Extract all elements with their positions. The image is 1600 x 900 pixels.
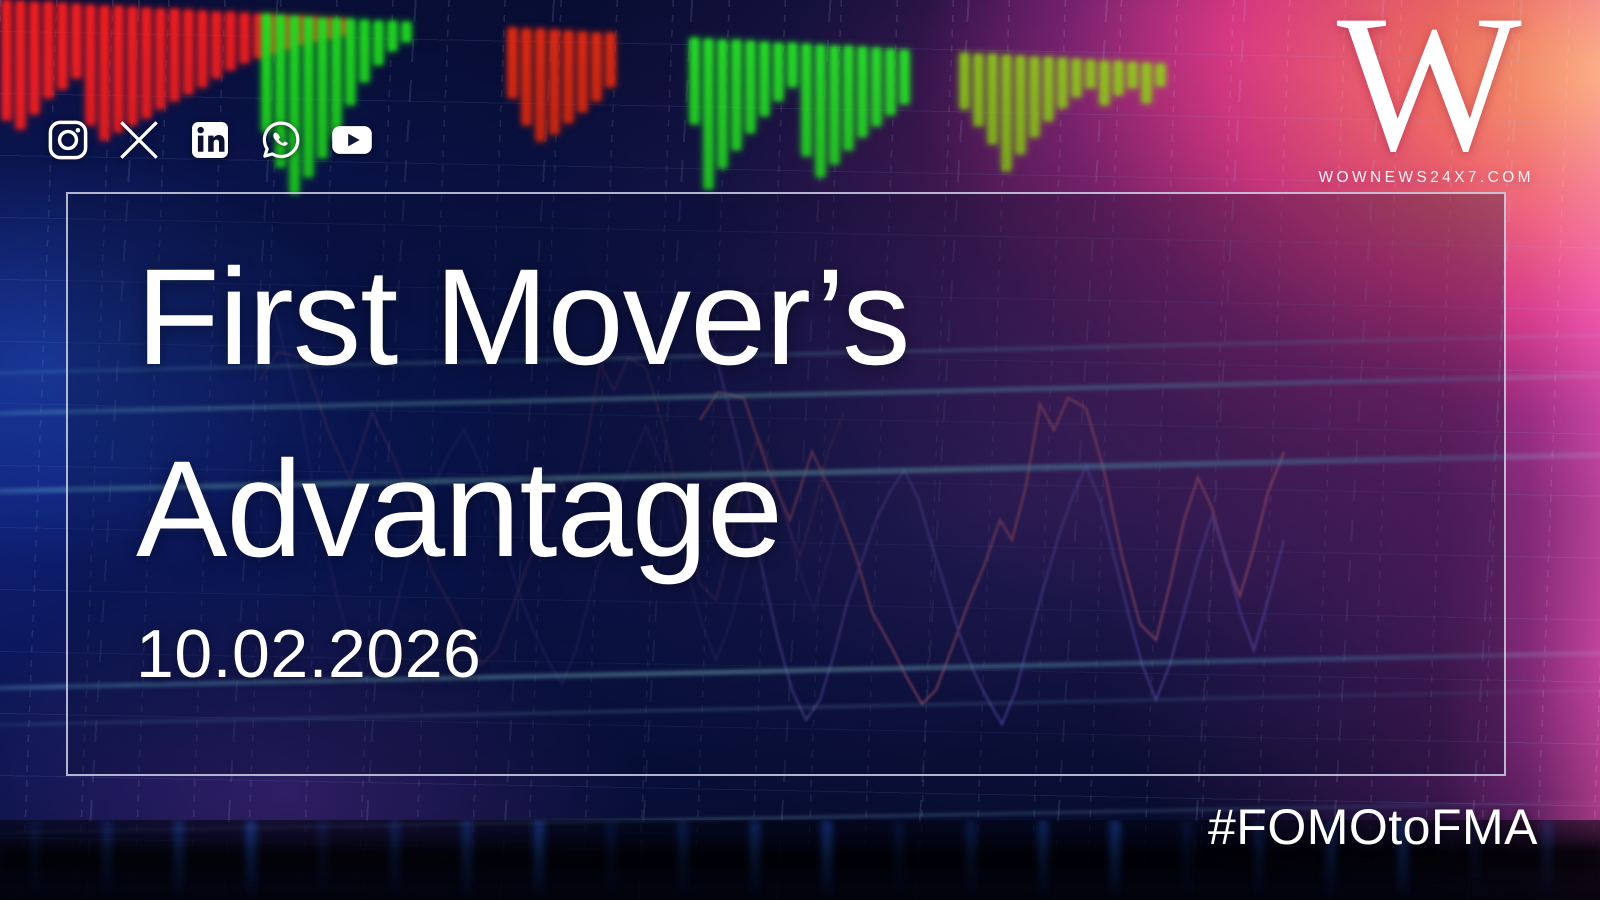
campaign-hashtag: #FOMOtoFMA xyxy=(1208,798,1538,856)
bottom-tick xyxy=(174,820,184,900)
social-link-instagram[interactable] xyxy=(46,118,90,162)
bottom-tick xyxy=(390,820,400,900)
bottom-tick xyxy=(822,820,832,900)
social-link-x[interactable] xyxy=(117,118,161,162)
linkedin-icon xyxy=(188,118,232,162)
bottom-tick xyxy=(102,820,112,900)
publish-date: 10.02.2026 xyxy=(136,620,1136,688)
bottom-tick xyxy=(894,820,904,900)
bottom-tick xyxy=(318,820,328,900)
youtube-icon xyxy=(330,118,374,162)
brand-logo[interactable]: W WOWNEWS24X7.COM xyxy=(1319,4,1534,187)
bottom-tick xyxy=(534,820,544,900)
social-links xyxy=(46,118,374,162)
bottom-tick xyxy=(30,820,40,900)
bottom-tick xyxy=(750,820,760,900)
bottom-tick xyxy=(606,820,616,900)
bottom-tick xyxy=(462,820,472,900)
logo-website-url: WOWNEWS24X7.COM xyxy=(1319,169,1534,187)
bottom-tick xyxy=(1110,820,1120,900)
page-title: First Mover’s Advantage xyxy=(136,222,1136,606)
x-icon xyxy=(117,118,161,162)
bottom-tick xyxy=(1182,820,1192,900)
whatsapp-icon xyxy=(259,118,303,162)
bottom-tick xyxy=(1542,820,1552,900)
bottom-tick xyxy=(1038,820,1048,900)
social-link-linkedin[interactable] xyxy=(188,118,232,162)
social-link-youtube[interactable] xyxy=(330,118,374,162)
logo-mark-w: W xyxy=(1337,4,1516,165)
promo-banner: W WOWNEWS24X7.COM First Mover’s Advantag… xyxy=(0,0,1600,900)
hero-text-block: First Mover’s Advantage 10.02.2026 xyxy=(136,222,1136,688)
bottom-tick xyxy=(966,820,976,900)
instagram-icon xyxy=(46,118,90,162)
social-link-whatsapp[interactable] xyxy=(259,118,303,162)
bottom-tick xyxy=(678,820,688,900)
bottom-tick xyxy=(246,820,256,900)
